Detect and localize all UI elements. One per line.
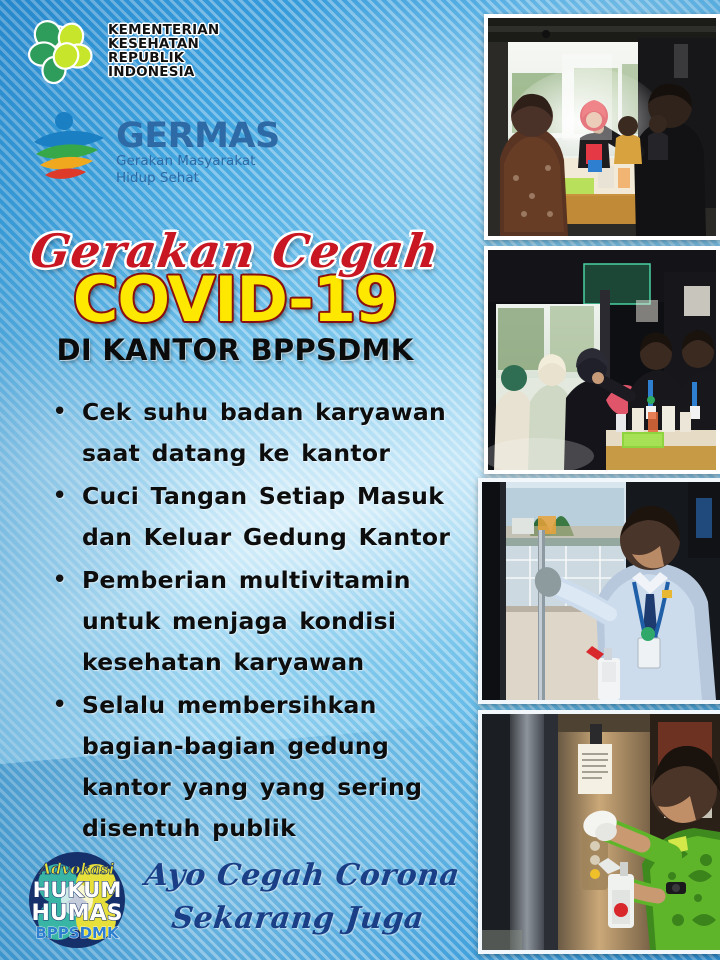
title-headline: COVID-19 bbox=[0, 270, 470, 330]
tagline-line-1: Ayo Cegah Corona bbox=[140, 855, 464, 898]
prevention-measures-list: • Cek suhu badan karyawan saat datang ke… bbox=[52, 392, 452, 851]
title-script: Gerakan Cegah bbox=[0, 228, 473, 274]
ministry-logo-text: KEMENTERIAN KESEHATAN REPUBLIK INDONESIA bbox=[108, 24, 219, 79]
title-block: Gerakan Cegah COVID-19 DI KANTOR BPPSDMK bbox=[0, 228, 470, 367]
list-item-line: kantor yang yang sering bbox=[82, 767, 422, 808]
list-item-line: untuk menjaga kondisi bbox=[82, 601, 411, 642]
list-item-line: bagian-bagian gedung bbox=[82, 726, 422, 767]
list-item-line: disentuh publik bbox=[82, 808, 422, 849]
list-item: • Cek suhu badan karyawan saat datang ke… bbox=[52, 392, 452, 474]
photo-screening-and-sanitizer-table bbox=[484, 246, 720, 474]
bullet-dot-icon: • bbox=[52, 392, 82, 474]
tagline: Ayo Cegah Corona Sekarang Juga bbox=[136, 855, 465, 940]
svg-text:Advokasi: Advokasi bbox=[37, 860, 114, 878]
list-item-text: Pemberian multivitamin untuk menjaga kon… bbox=[82, 560, 411, 683]
germas-figure-icon bbox=[30, 108, 108, 192]
poster-root: KEMENTERIAN KESEHATAN REPUBLIK INDONESIA… bbox=[0, 0, 720, 960]
kemenkes-clover-icon bbox=[26, 16, 98, 88]
list-item-line: Pemberian multivitamin bbox=[82, 560, 411, 601]
svg-text:BPPSDMK: BPPSDMK bbox=[35, 924, 120, 942]
list-item-line: Cuci Tangan Setiap Masuk bbox=[82, 476, 450, 517]
bullet-dot-icon: • bbox=[52, 560, 82, 683]
list-item: • Selalu membersihkan bagian-bagian gedu… bbox=[52, 685, 452, 849]
tagline-line-2: Sekarang Juga bbox=[136, 898, 460, 941]
list-item-text: Cuci Tangan Setiap Masuk dan Keluar Gedu… bbox=[82, 476, 450, 558]
left-content-column: KEMENTERIAN KESEHATAN REPUBLIK INDONESIA… bbox=[0, 0, 470, 960]
photo-cleaning-elevator-buttons bbox=[478, 710, 720, 954]
list-item-text: Cek suhu badan karyawan saat datang ke k… bbox=[82, 392, 446, 474]
title-subtitle: DI KANTOR BPPSDMK bbox=[0, 333, 470, 367]
germas-subtitle-line-2: Hidup Sehat bbox=[116, 171, 280, 187]
list-item-line: saat datang ke kantor bbox=[82, 433, 446, 474]
list-item-line: kesehatan karyawan bbox=[82, 642, 411, 683]
bullet-dot-icon: • bbox=[52, 476, 82, 558]
list-item-text: Selalu membersihkan bagian-bagian gedung… bbox=[82, 685, 422, 849]
hukum-humas-circle-icon: Advokasi HUKUM HUMAS BPPSDMK bbox=[22, 848, 132, 952]
list-item: • Pemberian multivitamin untuk menjaga k… bbox=[52, 560, 452, 683]
list-item-line: Cek suhu badan karyawan bbox=[82, 392, 446, 433]
list-item: • Cuci Tangan Setiap Masuk dan Keluar Ge… bbox=[52, 476, 452, 558]
germas-logo: GERMAS Gerakan Masyarakat Hidup Sehat bbox=[30, 108, 280, 192]
ministry-logo: KEMENTERIAN KESEHATAN REPUBLIK INDONESIA bbox=[26, 16, 219, 88]
bullet-dot-icon: • bbox=[52, 685, 82, 849]
photo-temperature-screening-entrance bbox=[484, 14, 720, 240]
svg-text:HUKUM: HUKUM bbox=[33, 878, 121, 902]
photo-cleaning-glass-door-handle bbox=[478, 478, 720, 704]
germas-logo-text: GERMAS Gerakan Masyarakat Hidup Sehat bbox=[116, 108, 280, 187]
photo-column bbox=[470, 0, 720, 960]
germas-wordmark: GERMAS bbox=[116, 120, 280, 153]
germas-subtitle-line-1: Gerakan Masyarakat bbox=[116, 154, 280, 170]
svg-text:HUMAS: HUMAS bbox=[31, 901, 122, 926]
ministry-line-4: INDONESIA bbox=[108, 66, 219, 80]
list-item-line: Selalu membersihkan bbox=[82, 685, 422, 726]
list-item-line: dan Keluar Gedung Kantor bbox=[82, 517, 450, 558]
